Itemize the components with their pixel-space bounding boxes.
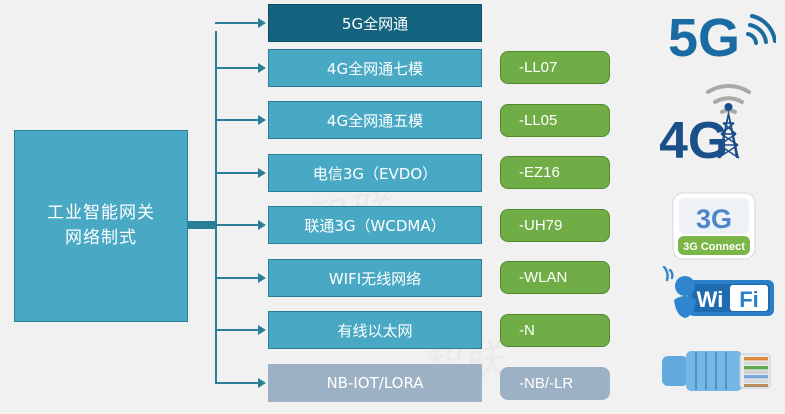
- arrow-head-icon: [258, 63, 266, 73]
- network-row-label: 4G全网通五模: [327, 110, 423, 131]
- code-tag-n[interactable]: -N: [500, 314, 610, 347]
- connector-branch: [215, 277, 260, 279]
- arrow-head-icon: [258, 18, 266, 28]
- network-row-label: 有线以太网: [337, 320, 412, 341]
- connector-branch: [215, 224, 260, 226]
- connector-branch: [215, 172, 260, 174]
- network-row-nbiot-lora[interactable]: NB-IOT/LORA: [268, 364, 482, 402]
- network-row-ethernet[interactable]: 有线以太网: [268, 311, 482, 349]
- arrow-head-icon: [258, 273, 266, 283]
- code-tag-uh79[interactable]: -UH79: [500, 209, 610, 242]
- svg-text:Wi: Wi: [697, 287, 724, 312]
- network-row-telecom-3g-evdo[interactable]: 电信3G（EVDO）: [268, 154, 482, 192]
- network-row-4g-7mode[interactable]: 4G全网通七模: [268, 49, 482, 87]
- arrow-head-icon: [258, 168, 266, 178]
- svg-text:5G: 5G: [668, 8, 740, 66]
- code-tag-ll05[interactable]: -LL05: [500, 104, 610, 137]
- svg-text:Fi: Fi: [739, 287, 759, 312]
- arrow-head-icon: [258, 378, 266, 388]
- code-tag-label: -EZ16: [501, 164, 560, 181]
- network-row-label: 电信3G（EVDO）: [313, 163, 437, 184]
- connector-branch: [215, 382, 260, 384]
- main-gateway-label-line1: 工业智能网关: [47, 201, 155, 226]
- network-row-4g-5mode[interactable]: 4G全网通五模: [268, 101, 482, 139]
- network-row-wifi[interactable]: WIFI无线网络: [268, 259, 482, 297]
- network-row-label: 5G全网通: [342, 13, 408, 34]
- network-row-label: WIFI无线网络: [329, 268, 421, 289]
- code-tag-ll07[interactable]: -LL07: [500, 51, 610, 84]
- network-row-label: 联通3G（WCDMA）: [304, 215, 445, 236]
- main-gateway-node[interactable]: 工业智能网关 网络制式: [14, 130, 188, 322]
- 4g-tower-logo: 4G: [660, 78, 780, 163]
- code-tag-wlan[interactable]: -WLAN: [500, 261, 610, 294]
- arrow-head-icon: [258, 325, 266, 335]
- code-tag-label: -LL07: [501, 59, 557, 76]
- connector-branch: [215, 22, 260, 24]
- connector-stub: [188, 221, 217, 229]
- rj45-cable-icon: [660, 338, 780, 408]
- 5g-logo: 5G: [666, 4, 776, 66]
- svg-text:3G: 3G: [696, 204, 732, 234]
- svg-text:3G Connect: 3G Connect: [683, 241, 745, 253]
- arrow-head-icon: [258, 220, 266, 230]
- network-row-5g[interactable]: 5G全网通: [268, 4, 482, 42]
- code-tag-label: -N: [501, 322, 535, 339]
- connector-branch: [215, 329, 260, 331]
- network-row-label: NB-IOT/LORA: [326, 374, 423, 392]
- network-row-label: 4G全网通七模: [327, 58, 423, 79]
- diagram-canvas: 智联 智联 智联 工业智能网关 网络制式 5G全网通 4G全网通七模 4G全网通…: [0, 0, 785, 414]
- wifi-logo: Wi Fi: [658, 266, 776, 328]
- code-tag-label: -UH79: [501, 217, 562, 234]
- arrow-head-icon: [258, 115, 266, 125]
- connector-branch: [215, 67, 260, 69]
- code-tag-label: -LL05: [501, 112, 557, 129]
- main-gateway-label-line2: 网络制式: [65, 226, 137, 251]
- connector-branch: [215, 119, 260, 121]
- code-tag-label: -NB/-LR: [501, 375, 573, 392]
- code-tag-label: -WLAN: [501, 269, 567, 286]
- code-tag-ez16[interactable]: -EZ16: [500, 156, 610, 189]
- 3g-connect-logo: 3G 3G Connect: [672, 192, 756, 260]
- svg-text:4G: 4G: [660, 112, 728, 163]
- network-row-unicom-3g-wcdma[interactable]: 联通3G（WCDMA）: [268, 206, 482, 244]
- code-tag-nb-lr[interactable]: -NB/-LR: [500, 367, 610, 400]
